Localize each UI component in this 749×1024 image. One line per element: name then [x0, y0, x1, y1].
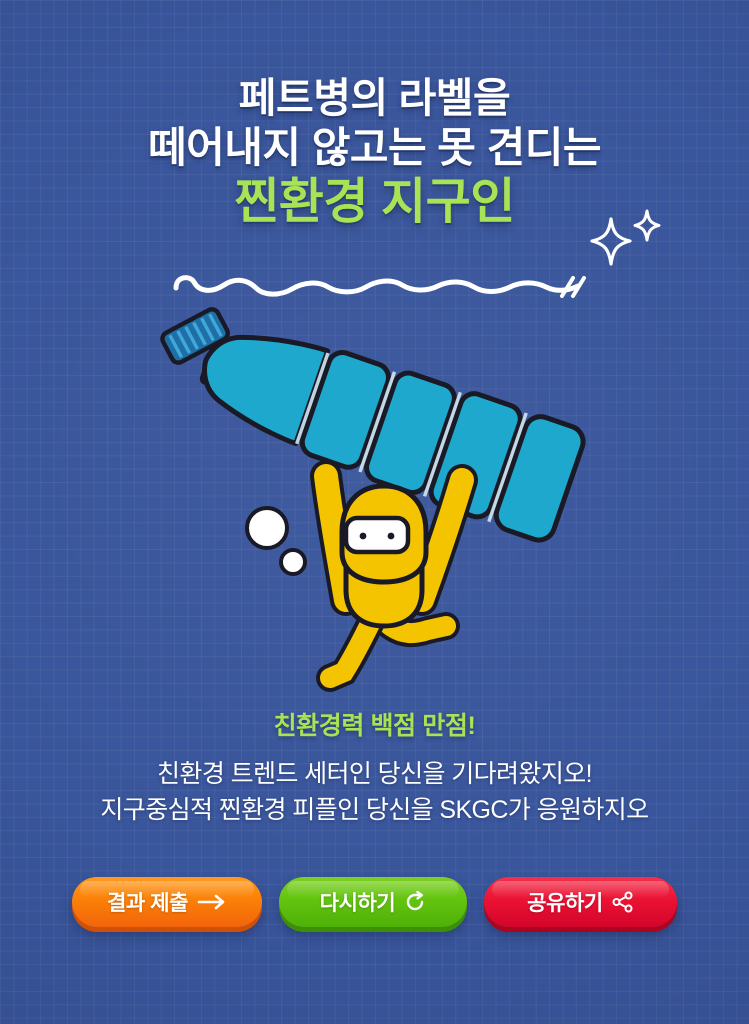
share-icon	[612, 891, 634, 913]
retry-button[interactable]: 다시하기	[279, 877, 467, 927]
sparkle-icon	[585, 205, 675, 280]
character-visor	[346, 518, 408, 552]
refresh-icon	[404, 891, 426, 913]
eco-hero-character	[326, 476, 462, 678]
subheading: 친환경력 백점 만점!	[0, 706, 749, 742]
submit-result-button[interactable]: 결과 제출	[72, 877, 262, 927]
wavy-underline	[168, 268, 588, 302]
headline-line-2: 떼어내지 않고는 못 견디는	[0, 127, 749, 169]
motion-dashes	[556, 268, 596, 302]
share-label: 공유하기	[527, 887, 603, 917]
action-buttons: 결과 제출 다시하기 공유하기	[0, 877, 749, 929]
body-copy: 친환경 트렌드 세터인 당신을 기다려왔지오! 지구중심적 찐환경 피플인 당신…	[0, 757, 749, 828]
body-line-2: 지구중심적 찐환경 피플인 당신을 SKGC가 응원하지오	[0, 793, 749, 829]
headline-line-3-wrap: 찐환경 지구인	[234, 178, 515, 227]
effort-bubbles	[247, 508, 305, 574]
share-button[interactable]: 공유하기	[484, 877, 677, 927]
submit-result-label: 결과 제출	[107, 887, 188, 917]
body-line-1: 친환경 트렌드 세터인 당신을 기다려왔지오!	[0, 757, 749, 793]
character-eye	[388, 533, 395, 540]
result-page: 페트병의 라벨을 떼어내지 않고는 못 견디는 찐환경 지구인	[0, 0, 749, 1024]
headline-line-3: 찐환경 지구인	[234, 178, 515, 227]
character-eye	[360, 533, 367, 540]
character-lifting-pet-bottle	[150, 300, 620, 700]
retry-label: 다시하기	[320, 887, 396, 917]
headline-line-1: 페트병의 라벨을	[0, 78, 749, 119]
arrow-right-icon	[197, 894, 227, 910]
